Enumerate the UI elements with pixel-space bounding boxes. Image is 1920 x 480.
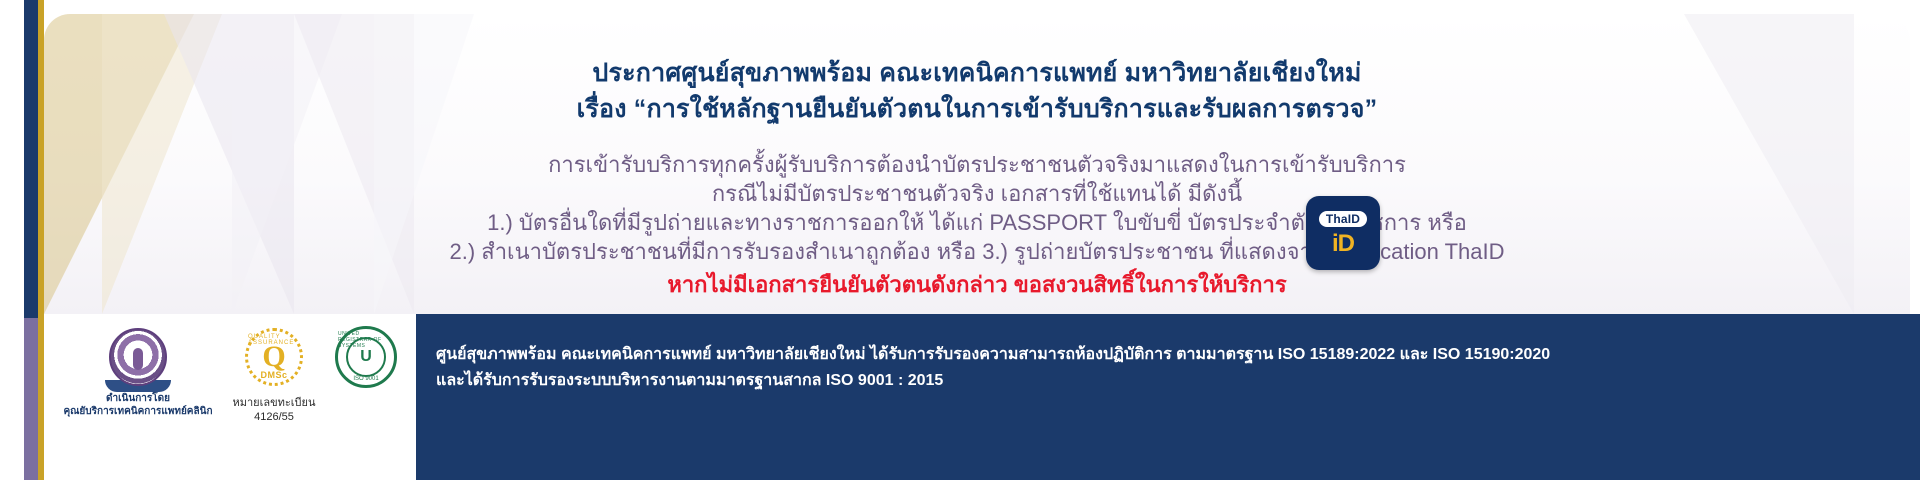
announcement-card: ประกาศศูนย์สุขภาพพร้อม คณะเทคนิคการแพทย์…: [44, 14, 1910, 314]
dmsc-ring-bottom-text: DMSc: [260, 370, 287, 380]
logo-urs: UNITED REGISTRAR OF SYSTEMS U ISO 9001: [324, 322, 408, 388]
cmu-amtec-seal-icon: [109, 328, 167, 386]
body-line-2: กรณีไม่มีบัตรประชาชนตัวจริง เอกสารที่ใช้…: [44, 179, 1910, 208]
warning-line: หากไม่มีเอกสารยืนยันตัวตนดังกล่าว ขอสงวน…: [44, 270, 1910, 299]
body-line-item-2-and-3: 2.) สำเนาบัตรประชาชนที่มีการรับรองสำเนาถ…: [44, 237, 1910, 266]
left-decorative-edge: [0, 0, 72, 480]
announcement-body-block: การเข้ารับบริการทุกครั้งผู้รับบริการต้อง…: [44, 150, 1910, 299]
thaid-logo-mark: iD: [1332, 232, 1354, 256]
body-line-item-1: 1.) บัตรอื่นใดที่มีรูปถ่ายและทางราชการออ…: [44, 208, 1910, 237]
footer-line-1: ศูนย์สุขภาพพร้อม คณะเทคนิคการแพทย์ มหาวิ…: [436, 342, 1900, 368]
edge-navy-bar: [24, 0, 38, 318]
edge-gold-stripe: [38, 0, 44, 480]
footer-line-2: และได้รับการรับรองระบบบริหารงานตามมาตรฐา…: [436, 368, 1900, 394]
announcement-title-line-2: เรื่อง “การใช้หลักฐานยืนยันตัวตนในการเข้…: [44, 94, 1910, 124]
urs-iso-seal-icon: UNITED REGISTRAR OF SYSTEMS U ISO 9001: [335, 326, 397, 388]
dmsc-ring-top-text: QUALITY ASSURANCE: [248, 334, 300, 346]
dmsc-quality-seal-icon: QUALITY ASSURANCE Q DMSc: [245, 328, 303, 386]
footer-text-block: ศูนย์สุขภาพพร้อม คณะเทคนิคการแพทย์ มหาวิ…: [436, 342, 1900, 394]
edge-white-margin: [0, 0, 24, 480]
footer-logo-panel: ดำเนินการโดย คุณยับริการเทคนิคการแพทย์คล…: [44, 314, 416, 480]
edge-violet-bar: [24, 318, 38, 480]
footer-band: ดำเนินการโดย คุณยับริการเทคนิคการแพทย์คล…: [44, 314, 1920, 480]
logo-cmu-amtec: ดำเนินการโดย คุณยับริการเทคนิคการแพทย์คล…: [52, 322, 224, 418]
announcement-title-line-1: ประกาศศูนย์สุขภาพพร้อม คณะเทคนิคการแพทย์…: [44, 58, 1910, 88]
urs-ring-bottom-text: ISO 9001: [353, 376, 378, 382]
announcement-title-block: ประกาศศูนย์สุขภาพพร้อม คณะเทคนิคการแพทย์…: [44, 58, 1910, 124]
dmsc-registration-number: หมายเลขทะเบียน 4126/55: [224, 393, 324, 423]
certification-logos: ดำเนินการโดย คุณยับริการเทคนิคการแพทย์คล…: [52, 322, 408, 472]
cmu-caption-line-1: ดำเนินการโดย: [106, 392, 170, 405]
logo-dmsc: QUALITY ASSURANCE Q DMSc หมายเลขทะเบียน …: [224, 322, 324, 423]
thaid-name-pill: ThaID: [1319, 211, 1367, 227]
cmu-caption-line-2: คุณยับริการเทคนิคการแพทย์คลินิก: [63, 405, 212, 418]
dmsc-q-mark: Q: [262, 342, 285, 372]
urs-ring-top-text: UNITED REGISTRAR OF SYSTEMS: [338, 331, 394, 349]
body-line-1: การเข้ารับบริการทุกครั้งผู้รับบริการต้อง…: [44, 150, 1910, 179]
thaid-app-icon: ThaID iD: [1306, 196, 1380, 270]
